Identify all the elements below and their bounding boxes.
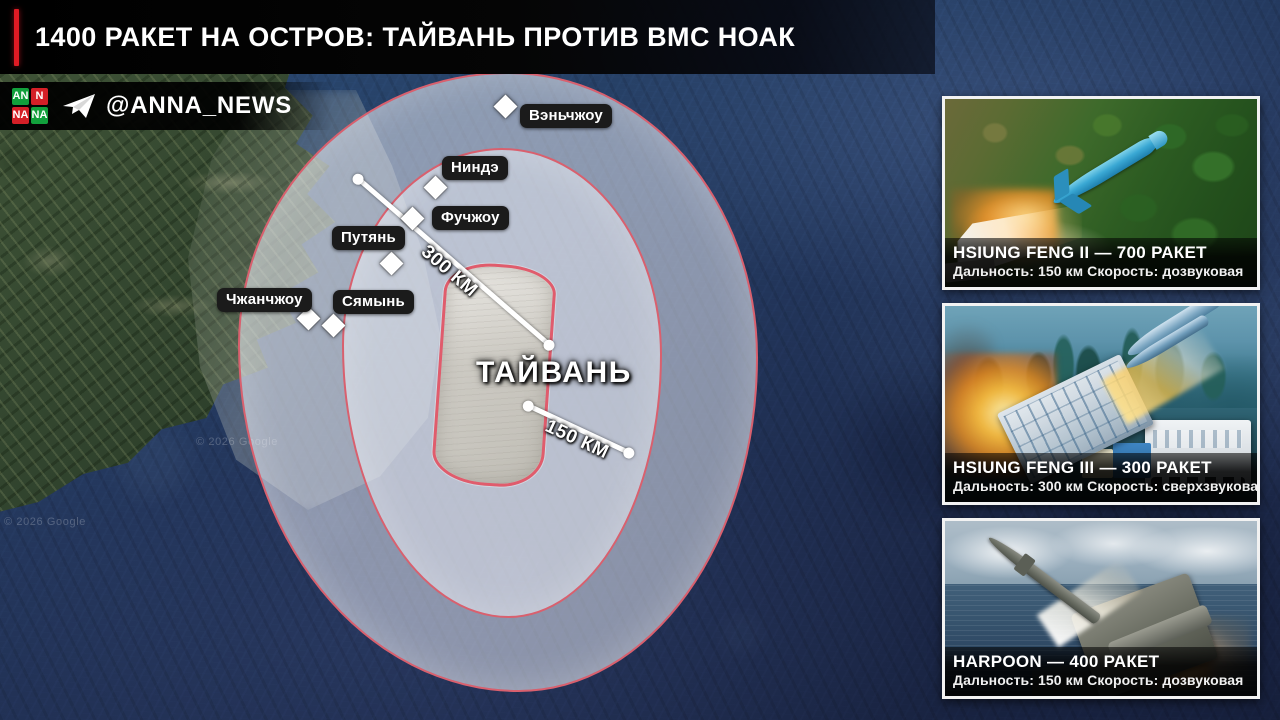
taiwan-label: ТАЙВАНЬ [476, 356, 632, 390]
card-caption: HSIUNG FENG III — 300 РАКЕТ Дальность: 3… [945, 453, 1257, 502]
card-subtitle: Дальность: 300 км Скорость: сверхзвукова… [953, 478, 1249, 495]
telegram-plane-icon [62, 93, 96, 119]
missile-card[interactable]: HSIUNG FENG III — 300 РАКЕТ Дальность: 3… [942, 303, 1260, 505]
truck-windows [1153, 430, 1242, 447]
logo-cell-br: NA [31, 107, 48, 124]
city-label-fuzhou[interactable]: Фучжоу [432, 206, 509, 230]
missile-card[interactable]: HARPOON — 400 РАКЕТ Дальность: 150 км Ск… [942, 518, 1260, 699]
card-caption: HARPOON — 400 РАКЕТ Дальность: 150 км Ск… [945, 647, 1257, 696]
city-label-ningde[interactable]: Ниндэ [442, 156, 508, 180]
city-label-putian[interactable]: Путянь [332, 226, 405, 250]
missile-card[interactable]: HSIUNG FENG II — 700 РАКЕТ Дальность: 15… [942, 96, 1260, 290]
header-accent-bar [14, 9, 19, 66]
city-label-zhangzhou[interactable]: Чжанчжоу [217, 288, 312, 312]
logo-cell-tl: AN [12, 88, 29, 105]
card-subtitle: Дальность: 150 км Скорость: дозвуковая [953, 672, 1249, 689]
city-label-xiamen[interactable]: Сямынь [333, 290, 414, 314]
missile-card-list: HSIUNG FENG II — 700 РАКЕТ Дальность: 15… [942, 96, 1260, 699]
page-title: 1400 РАКЕТ НА ОСТРОВ: ТАЙВАНЬ ПРОТИВ ВМС… [35, 22, 795, 53]
city-label-wenzhou[interactable]: Вэньчжоу [520, 104, 612, 128]
card-caption: HSIUNG FENG II — 700 РАКЕТ Дальность: 15… [945, 238, 1257, 287]
card-subtitle: Дальность: 150 км Скорость: дозвуковая [953, 263, 1249, 280]
map-attribution: © 2026 Google [4, 516, 86, 528]
card-title: HSIUNG FENG III — 300 РАКЕТ [953, 458, 1249, 478]
anna-logo: AN N NA NA [12, 88, 48, 124]
infographic-canvas: © 2026 Google © 2026 Google ТАЙВАНЬ 300 … [0, 0, 1280, 720]
logo-cell-tr: N [31, 88, 48, 105]
card-title: HARPOON — 400 РАКЕТ [953, 652, 1249, 672]
logo-cell-bl: NA [12, 107, 29, 124]
card-title: HSIUNG FENG II — 700 РАКЕТ [953, 243, 1249, 263]
header-bar: 1400 РАКЕТ НА ОСТРОВ: ТАЙВАНЬ ПРОТИВ ВМС… [0, 0, 935, 74]
channel-handle: @ANNA_NEWS [106, 92, 292, 120]
channel-watermark[interactable]: AN N NA NA @ANNA_NEWS [0, 82, 332, 130]
